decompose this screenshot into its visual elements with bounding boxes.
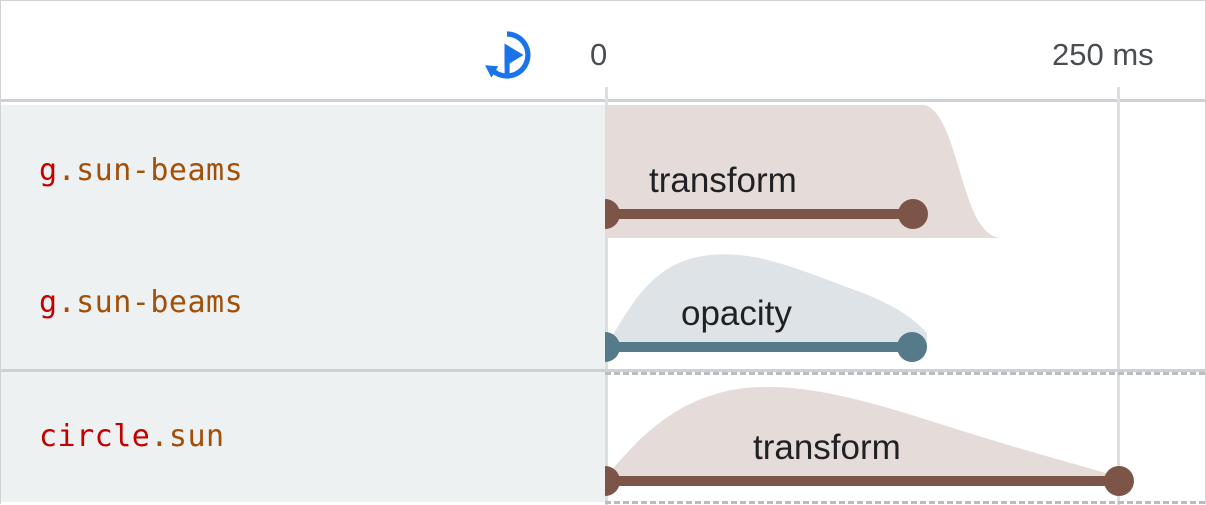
animation-rows: g.sun-beams g.sun-beams transform bbox=[1, 105, 1205, 505]
animation-group-labels: circle.sun bbox=[1, 372, 605, 502]
selector-element: g bbox=[39, 288, 58, 318]
animation-label-1[interactable]: g.sun-beams bbox=[1, 237, 605, 369]
animation-end-handle[interactable] bbox=[897, 332, 927, 362]
animation-track-transform[interactable]: transform bbox=[605, 372, 1205, 505]
animation-group-sun-beams[interactable]: g.sun-beams g.sun-beams transform bbox=[1, 105, 1205, 372]
animation-property-name: opacity bbox=[681, 296, 792, 331]
animation-label-2[interactable]: circle.sun bbox=[1, 422, 225, 452]
selector-element: circle bbox=[39, 419, 150, 454]
selector-class: .sun-beams bbox=[58, 288, 244, 318]
animation-property-name: transform bbox=[753, 430, 901, 465]
replay-icon bbox=[479, 27, 535, 83]
animation-group-labels: g.sun-beams g.sun-beams bbox=[1, 105, 605, 369]
animation-end-handle[interactable] bbox=[1104, 466, 1134, 496]
animation-end-handle[interactable] bbox=[898, 199, 928, 229]
animation-label-0[interactable]: g.sun-beams bbox=[1, 105, 605, 237]
animation-duration-bar[interactable] bbox=[605, 342, 912, 352]
selector-class: .sun-beams bbox=[58, 156, 244, 186]
animation-track-opacity[interactable]: opacity bbox=[605, 238, 1205, 371]
animation-track-transform[interactable]: transform bbox=[605, 105, 1205, 238]
animations-timeline-panel: 0 250 ms g.sun-beams g.sun-beams bbox=[0, 0, 1206, 504]
selector-element: g bbox=[39, 156, 58, 186]
animation-duration-bar[interactable] bbox=[605, 476, 1119, 486]
gridline-tick-end bbox=[1117, 87, 1120, 102]
selector-class: .sun bbox=[150, 419, 224, 454]
replay-button[interactable] bbox=[477, 25, 537, 85]
gridline-tick-start bbox=[605, 87, 608, 102]
animation-duration-bar[interactable] bbox=[605, 209, 913, 219]
animation-property-name: transform bbox=[649, 163, 797, 198]
timeline-header: 0 250 ms bbox=[1, 1, 1205, 102]
timeline-tick-end: 250 ms bbox=[1052, 39, 1154, 70]
timeline-tick-start: 0 bbox=[590, 39, 607, 70]
animation-group-sun[interactable]: circle.sun transform bbox=[1, 372, 1205, 502]
